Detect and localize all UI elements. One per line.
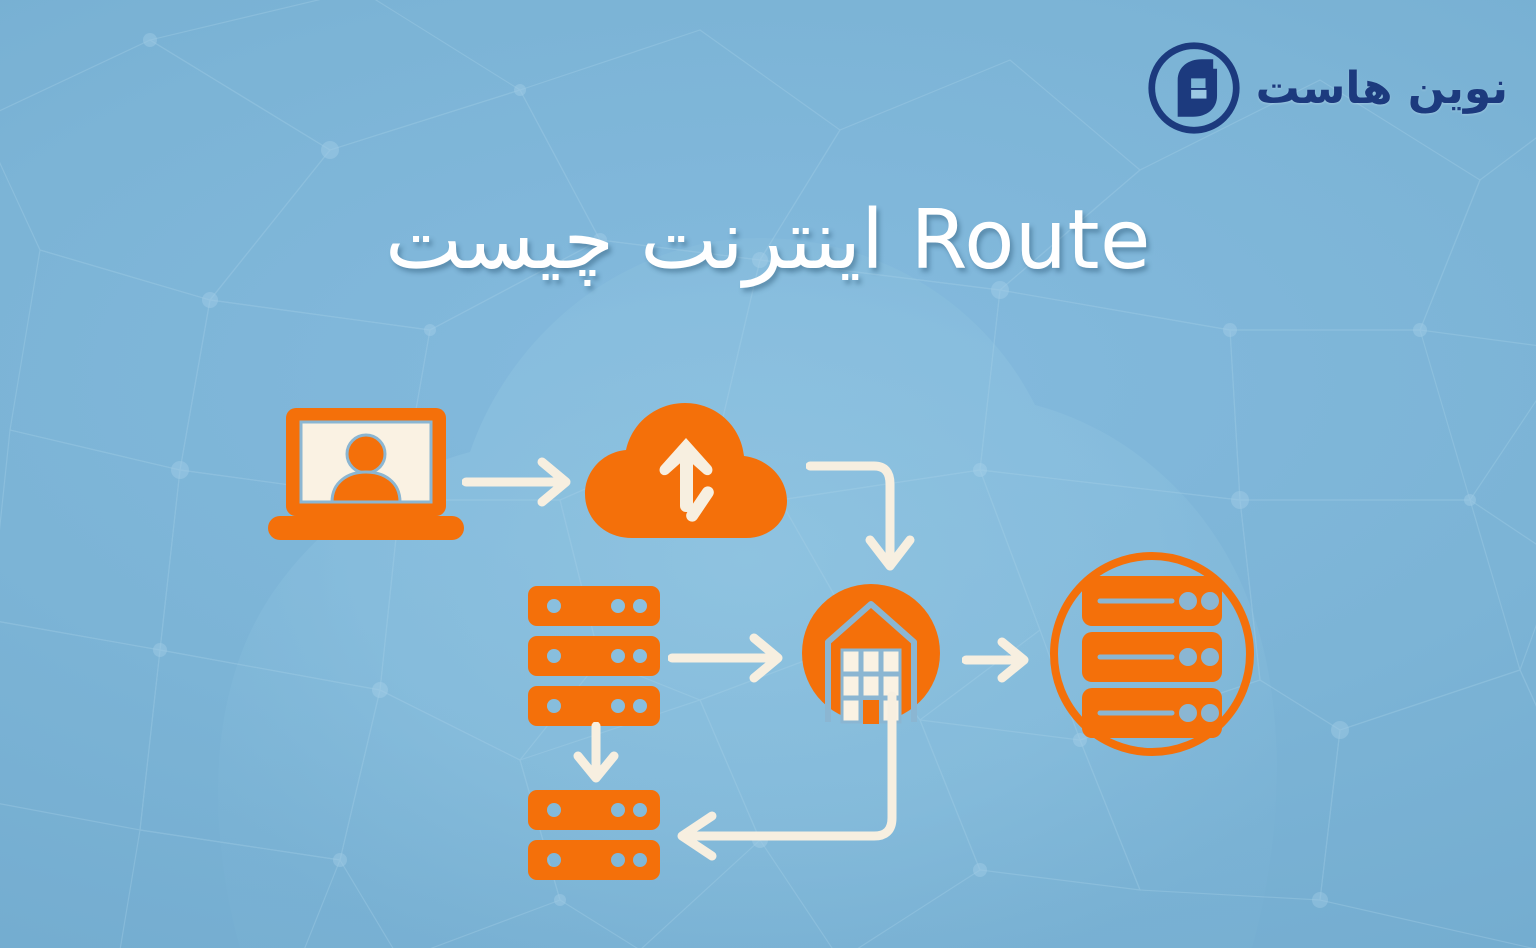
server-rack-circle-icon[interactable]: [1046, 548, 1258, 760]
cloud-upload-icon[interactable]: [580, 400, 795, 550]
server-stack-icon-lower[interactable]: [528, 790, 660, 880]
laptop-user-icon[interactable]: [268, 404, 468, 544]
infographic-canvas: نوین هاست Route اینترنت چیست: [0, 0, 1536, 948]
route-flow-diagram: [0, 0, 1536, 948]
arrow-datacenter-to-rack-icon: [962, 630, 1038, 690]
arrow-servers-upper-to-lower-icon: [566, 722, 626, 786]
arrow-datacenter-to-servers-lower-icon: [660, 690, 920, 870]
server-stack-icon-upper[interactable]: [528, 586, 660, 726]
arrow-servers-to-datacenter-icon: [668, 628, 794, 688]
arrow-cloud-to-datacenter-icon: [806, 456, 926, 586]
arrow-laptop-to-cloud-icon: [462, 452, 582, 512]
